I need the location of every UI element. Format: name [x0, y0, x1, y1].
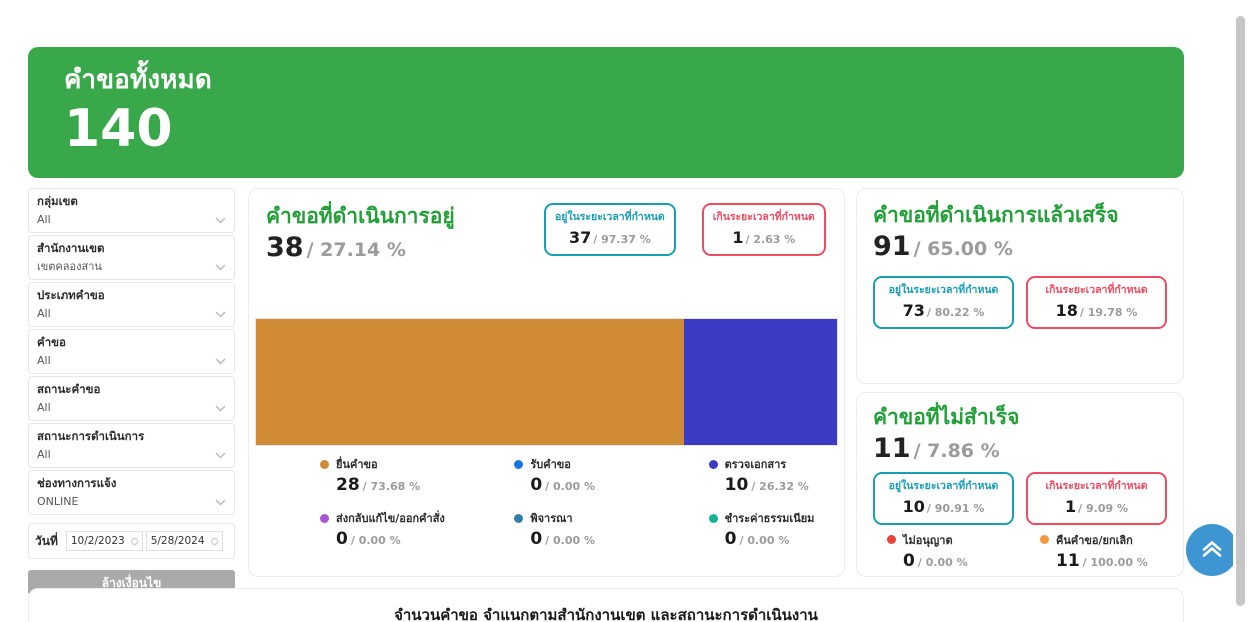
date-range-label: วันที่: [35, 532, 58, 551]
in-progress-count: 38: [266, 232, 304, 263]
chevron-down-icon[interactable]: [215, 264, 226, 271]
overdue-label: เกินระยะเวลาที่กำหนด: [1037, 284, 1156, 298]
legend-count: 10: [725, 475, 749, 495]
on-time-label: อยู่ในระยะเวลาที่กำหนด: [555, 211, 665, 225]
filter-request[interactable]: คำขอ All: [28, 329, 235, 374]
unsuccessful-count: 11: [873, 433, 911, 464]
overdue-label: เกินระยะเวลาที่กำหนด: [713, 211, 815, 225]
legend-label: ไม่อนุญาต: [903, 531, 953, 549]
in-progress-overdue-box[interactable]: เกินระยะเวลาที่กำหนด 1/ 2.63 %: [702, 203, 826, 256]
on-time-percent: / 97.37 %: [593, 233, 651, 246]
legend-label: คืนคำขอ/ยกเลิก: [1056, 531, 1133, 549]
legend-percent: / 26.32 %: [751, 480, 809, 493]
legend-label: รับคำขอ: [530, 455, 571, 473]
legend-color-dot: [709, 460, 718, 469]
unsuccessful-on-time-box[interactable]: อยู่ในระยะเวลาที่กำหนด 10/ 90.91 %: [873, 472, 1014, 525]
unsuccessful-percent: / 7.86 %: [914, 440, 1000, 462]
filter-label: สำนักงานเขต: [37, 241, 226, 257]
on-time-count: 37: [569, 228, 591, 247]
filter-label: สถานะการดำเนินการ: [37, 429, 226, 445]
on-time-value: 37/ 97.37 %: [555, 228, 665, 247]
dashboard-page: คำขอทั้งหมด 140 กลุ่มเขต All สำนักงานเขต…: [0, 0, 1248, 622]
overdue-count: 1: [1065, 497, 1076, 516]
unsuccessful-summary: 11/ 7.86 %: [873, 433, 1167, 464]
status-legend: ยื่นคำขอ28/ 73.68 %รับคำขอ0/ 0.00 %ตรวจเ…: [255, 455, 838, 549]
date-range-filter: วันที่ 10/2/2023 5/28/2024: [28, 523, 235, 559]
legend-item[interactable]: ส่งกลับแก้ไข/ออกคำสั่ง0/ 0.00 %: [255, 509, 449, 549]
overdue-count: 18: [1056, 301, 1078, 320]
filter-value: All: [37, 306, 226, 323]
in-progress-on-time-box[interactable]: อยู่ในระยะเวลาที่กำหนด 37/ 97.37 %: [544, 203, 676, 256]
filter-label: ช่องทางการแจ้ง: [37, 476, 226, 492]
legend-percent: / 0.00 %: [545, 534, 595, 547]
on-time-count: 10: [903, 497, 925, 516]
legend-value: 11/ 100.00 %: [1040, 551, 1167, 571]
filter-value: ONLINE: [37, 494, 226, 511]
legend-color-dot: [709, 514, 718, 523]
legend-value: 10/ 26.32 %: [709, 475, 838, 495]
completed-summary: 91/ 65.00 %: [873, 231, 1167, 262]
legend-label: ส่งกลับแก้ไข/ออกคำสั่ง: [336, 509, 445, 527]
in-progress-title: คำขอที่ดำเนินการอยู่: [266, 203, 544, 229]
on-time-percent: / 80.22 %: [927, 306, 985, 319]
overdue-label: เกินระยะเวลาที่กำหนด: [1037, 480, 1156, 494]
in-progress-percent: / 27.14 %: [307, 239, 406, 261]
legend-item[interactable]: ไม่อนุญาต0/ 0.00 %: [873, 531, 1014, 571]
completed-overdue-box[interactable]: เกินระยะเวลาที่กำหนด 18/ 19.78 %: [1026, 276, 1167, 329]
legend-percent: / 0.00 %: [740, 534, 790, 547]
calendar-icon[interactable]: [211, 538, 218, 545]
filter-value: All: [37, 212, 226, 229]
filter-value: All: [37, 353, 226, 370]
filter-value: เขตคลองสาน: [37, 259, 226, 276]
banner-value: 140: [64, 102, 1184, 157]
legend-color-dot: [514, 460, 523, 469]
legend-count: 28: [336, 475, 360, 495]
legend-color-dot: [1040, 535, 1049, 544]
legend-label: ยื่นคำขอ: [336, 455, 378, 473]
in-progress-summary: 38/ 27.14 %: [266, 232, 544, 263]
chevron-down-icon[interactable]: [215, 217, 226, 224]
scrollbar-thumb[interactable]: [1236, 16, 1245, 606]
legend-item[interactable]: ตรวจเอกสาร10/ 26.32 %: [644, 455, 838, 495]
overdue-percent: / 9.09 %: [1078, 502, 1128, 515]
completed-percent: / 65.00 %: [914, 238, 1013, 260]
legend-value: 0/ 0.00 %: [514, 475, 643, 495]
filter-sidebar: กลุ่มเขต All สำนักงานเขต เขตคลองสาน ประเ…: [28, 188, 235, 595]
filter-value: All: [37, 447, 226, 464]
legend-percent: / 73.68 %: [363, 480, 421, 493]
overdue-value: 1/ 2.63 %: [713, 228, 815, 247]
completed-title: คำขอที่ดำเนินการแล้วเสร็จ: [873, 202, 1167, 228]
legend-item[interactable]: ยื่นคำขอ28/ 73.68 %: [255, 455, 449, 495]
filter-group-district[interactable]: กลุ่มเขต All: [28, 188, 235, 233]
unsuccessful-legend: ไม่อนุญาต0/ 0.00 %คืนคำขอ/ยกเลิก11/ 100.…: [873, 531, 1167, 571]
legend-item[interactable]: พิจารณา0/ 0.00 %: [449, 509, 643, 549]
status-stacked-bar-chart[interactable]: [255, 318, 838, 446]
legend-item[interactable]: ชำระค่าธรรมเนียม0/ 0.00 %: [644, 509, 838, 549]
filter-value: All: [37, 400, 226, 417]
filter-operation-status[interactable]: สถานะการดำเนินการ All: [28, 423, 235, 468]
overdue-percent: / 2.63 %: [745, 233, 795, 246]
chevron-down-icon[interactable]: [215, 499, 226, 506]
legend-color-dot: [320, 514, 329, 523]
filter-label: คำขอ: [37, 335, 226, 351]
filter-label: สถานะคำขอ: [37, 382, 226, 398]
total-requests-banner: คำขอทั้งหมด 140: [28, 47, 1184, 178]
on-time-value: 73/ 80.22 %: [884, 301, 1003, 320]
legend-item[interactable]: คืนคำขอ/ยกเลิก11/ 100.00 %: [1026, 531, 1167, 571]
legend-value: 0/ 0.00 %: [514, 529, 643, 549]
chevron-down-icon[interactable]: [215, 405, 226, 412]
scroll-to-top-button[interactable]: [1186, 524, 1238, 576]
date-start-value: 10/2/2023: [71, 535, 125, 547]
completed-card: คำขอที่ดำเนินการแล้วเสร็จ 91/ 65.00 % อย…: [856, 188, 1184, 384]
on-time-percent: / 90.91 %: [927, 502, 985, 515]
date-end-value: 5/28/2024: [151, 535, 205, 547]
filter-notification-channel[interactable]: ช่องทางการแจ้ง ONLINE: [28, 470, 235, 515]
legend-count: 0: [530, 475, 542, 495]
completed-count: 91: [873, 231, 911, 262]
date-start-input[interactable]: 10/2/2023: [66, 531, 143, 551]
overdue-count: 1: [732, 228, 743, 247]
filter-label: กลุ่มเขต: [37, 194, 226, 210]
chevron-down-icon[interactable]: [215, 311, 226, 318]
legend-color-dot: [514, 514, 523, 523]
legend-percent: / 0.00 %: [545, 480, 595, 493]
unsuccessful-card: คำขอที่ไม่สำเร็จ 11/ 7.86 % อยู่ในระยะเว…: [856, 392, 1184, 577]
legend-label: พิจารณา: [530, 509, 572, 527]
legend-label: ชำระค่าธรรมเนียม: [725, 509, 815, 527]
legend-percent: / 0.00 %: [918, 556, 968, 569]
legend-value: 0/ 0.00 %: [709, 529, 838, 549]
filter-request-status[interactable]: สถานะคำขอ All: [28, 376, 235, 421]
bar-segment[interactable]: [256, 319, 684, 445]
legend-count: 0: [725, 529, 737, 549]
legend-item[interactable]: รับคำขอ0/ 0.00 %: [449, 455, 643, 495]
legend-value: 0/ 0.00 %: [320, 529, 449, 549]
overdue-value: 18/ 19.78 %: [1037, 301, 1156, 320]
on-time-count: 73: [903, 301, 925, 320]
filter-label: ประเภทคำขอ: [37, 288, 226, 304]
district-chart-card: จำนวนคำขอ จำแนกตามสำนักงานเขต และสถานะกา…: [28, 588, 1184, 622]
on-time-value: 10/ 90.91 %: [884, 497, 1003, 516]
legend-label: ตรวจเอกสาร: [725, 455, 787, 473]
on-time-label: อยู่ในระยะเวลาที่กำหนด: [884, 480, 1003, 494]
chevron-down-icon[interactable]: [215, 358, 226, 365]
district-chart-title: จำนวนคำขอ จำแนกตามสำนักงานเขต และสถานะกา…: [29, 603, 1183, 622]
overdue-value: 1/ 9.09 %: [1037, 497, 1156, 516]
completed-on-time-box[interactable]: อยู่ในระยะเวลาที่กำหนด 73/ 80.22 %: [873, 276, 1014, 329]
unsuccessful-overdue-box[interactable]: เกินระยะเวลาที่กำหนด 1/ 9.09 %: [1026, 472, 1167, 525]
filter-request-type[interactable]: ประเภทคำขอ All: [28, 282, 235, 327]
legend-percent: / 100.00 %: [1083, 556, 1148, 569]
page-scrollbar[interactable]: [1233, 0, 1248, 622]
on-time-label: อยู่ในระยะเวลาที่กำหนด: [884, 284, 1003, 298]
legend-color-dot: [887, 535, 896, 544]
banner-title: คำขอทั้งหมด: [64, 65, 1184, 96]
legend-value: 0/ 0.00 %: [887, 551, 1014, 571]
double-chevron-up-icon: [1201, 539, 1223, 562]
unsuccessful-title: คำขอที่ไม่สำเร็จ: [873, 404, 1167, 430]
legend-count: 11: [1056, 551, 1080, 571]
chevron-down-icon[interactable]: [215, 452, 226, 459]
legend-count: 0: [336, 529, 348, 549]
legend-color-dot: [320, 460, 329, 469]
calendar-icon[interactable]: [131, 538, 138, 545]
legend-count: 0: [903, 551, 915, 571]
legend-percent: / 0.00 %: [351, 534, 401, 547]
bar-segment[interactable]: [684, 319, 837, 445]
legend-value: 28/ 73.68 %: [320, 475, 449, 495]
overdue-percent: / 19.78 %: [1080, 306, 1138, 319]
legend-count: 0: [530, 529, 542, 549]
date-end-input[interactable]: 5/28/2024: [146, 531, 223, 551]
filter-district-office[interactable]: สำนักงานเขต เขตคลองสาน: [28, 235, 235, 280]
